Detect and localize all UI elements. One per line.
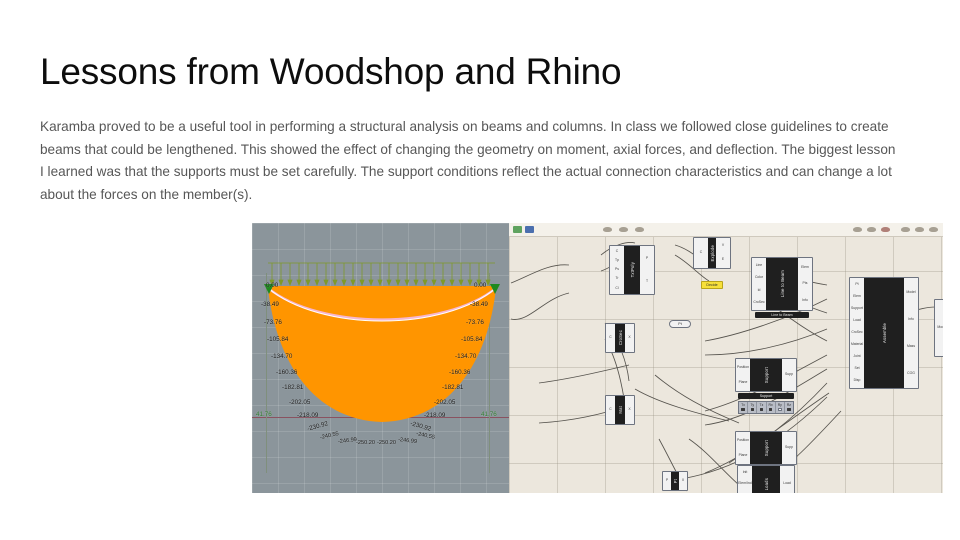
pin-label: C [616, 250, 618, 253]
explode-inputs[interactable]: C [694, 238, 708, 268]
dof-ry[interactable]: Ry [776, 402, 785, 413]
support2-title-bar[interactable]: Support [750, 432, 782, 464]
toolbar-curve-icon-1[interactable] [603, 227, 612, 232]
dof-label: Rx [769, 404, 773, 407]
explode-outputs[interactable]: V E [716, 238, 730, 268]
toolbar-chip-green-icon[interactable] [513, 226, 522, 233]
dof-label: Tz [760, 404, 764, 407]
support1-dof-row[interactable]: Tx Ty Tz Rx Ry Rz [738, 401, 794, 414]
crosec-outputs[interactable]: X [625, 324, 634, 352]
support2-outputs[interactable]: Supp [782, 432, 796, 464]
point-pill-param[interactable]: Pt [669, 320, 691, 328]
component-name: Support [764, 367, 769, 383]
crosec-inputs[interactable]: C [606, 324, 615, 352]
pin-label: Supp [785, 373, 793, 376]
pin-label: T [646, 280, 648, 283]
moment-label-left-0: 0.00 [266, 282, 278, 289]
pin-label: Load [783, 482, 791, 485]
page-title: Lessons from Woodshop and Rhino [40, 52, 621, 93]
pin-label: Load [853, 319, 861, 322]
loads-outputs[interactable]: Load [780, 466, 794, 493]
pin-label: Model [937, 326, 943, 329]
embedded-screenshot[interactable]: 0.00 -38.49 -73.76 -105.84 -134.70 -160.… [252, 223, 943, 493]
loads-inputs[interactable]: Init Elem/Ind LCInd [738, 466, 752, 493]
pin-label: Pt [855, 283, 858, 286]
pin-label: Init [743, 471, 748, 474]
component-assemble[interactable]: Pt Elem Support Load CroSec Material Joi… [849, 277, 919, 389]
txtpoly-outputs[interactable]: P T [640, 246, 654, 294]
moment-label-right-3: -105.84 [461, 336, 482, 343]
moment-label-right-0: 0.00 [474, 282, 486, 289]
assemble-title-bar[interactable]: Assemble [864, 278, 904, 388]
pin-label: Plane [739, 454, 748, 457]
dof-checkbox[interactable] [751, 408, 755, 412]
pin-label: Support [851, 307, 863, 310]
pin-label: C [700, 251, 702, 254]
pin-label: CroSec [851, 331, 862, 334]
pin-label: Info [908, 318, 914, 321]
reaction-label-right: 41.76 [481, 411, 497, 418]
component-name: CroSec [618, 330, 623, 345]
loads-title-bar[interactable]: Loads [752, 466, 780, 493]
moment-label-bottom-3: -250.20 [377, 440, 396, 446]
txtpoly-inputs[interactable]: C Tp Ps Tr Cl [610, 246, 624, 294]
component-name: Line to Beam [780, 270, 785, 297]
component-txtpoly[interactable]: C Tp Ps Tr Cl TxtPoly P T [609, 245, 655, 295]
component-support-1[interactable]: Position Plane Support Supp [735, 358, 797, 392]
pin-label: Tr [615, 277, 618, 280]
assemble-inputs[interactable]: Pt Elem Support Load CroSec Material Joi… [850, 278, 864, 388]
moment-label-right-7: -202.05 [434, 399, 455, 406]
pin-label: Line [756, 264, 762, 267]
pin-label: Position [737, 366, 749, 369]
pin-label: COG [907, 372, 915, 375]
material-inputs[interactable]: C [606, 396, 615, 424]
pin-label: Cl [615, 287, 618, 290]
component-support-2[interactable]: Position Plane Support Supp [735, 431, 797, 465]
toolbar-curve-icon-4[interactable] [853, 227, 862, 232]
component-analyze[interactable]: Model Analyze Model Disp Force Energy [934, 299, 943, 357]
dof-tx[interactable]: Tx [739, 402, 748, 413]
pin-label: X [628, 336, 630, 339]
txtpoly-title-bar[interactable]: TxtPoly [624, 246, 640, 294]
assemble-outputs[interactable]: Model Info Mass COG [904, 278, 918, 388]
line-to-beam-caption: Line to Beam [755, 312, 809, 318]
component-point[interactable]: P Pt X [662, 471, 688, 491]
material-title-bar[interactable]: Mat [615, 396, 625, 424]
pin-label: Set [854, 367, 859, 370]
support1-inputs[interactable]: Position Plane [736, 359, 750, 391]
dof-ty[interactable]: Ty [748, 402, 757, 413]
component-name: Loads [764, 478, 769, 490]
component-line-to-beam[interactable]: Line Color Id CroSec Line to Beam Elem P… [751, 257, 813, 311]
component-crosec[interactable]: C CroSec X [605, 323, 635, 353]
pin-label: X [628, 408, 630, 411]
pin-label: Tp [615, 259, 619, 262]
moment-label-right-6: -182.81 [442, 384, 463, 391]
pin-label: Elem [801, 266, 809, 269]
component-name: TxtPoly [630, 262, 635, 277]
moment-label-bottom-2: -250.20 [356, 440, 375, 446]
moment-label-left-2: -73.76 [264, 319, 282, 326]
component-name: Mat [618, 406, 623, 414]
slide: Lessons from Woodshop and Rhino Karamba … [0, 0, 960, 540]
dof-checkbox[interactable] [769, 408, 773, 412]
pin-label: Supp [785, 446, 793, 449]
toolbar-curve-icon-7[interactable] [901, 227, 910, 232]
pin-label: CroSec [753, 301, 764, 304]
pin-label: Disp [854, 379, 861, 382]
pin-label: Info [802, 299, 808, 302]
toolbar-curve-icon-2[interactable] [619, 227, 628, 232]
dof-tz[interactable]: Tz [757, 402, 766, 413]
line-to-beam-inputs[interactable]: Line Color Id CroSec [752, 258, 766, 310]
component-name: Support [764, 440, 769, 456]
decide-panel[interactable]: Decide [701, 281, 723, 289]
pin-label: Mass [907, 345, 915, 348]
crosec-title-bar[interactable]: CroSec [615, 324, 625, 352]
component-name: Assemble [882, 323, 887, 343]
point-outputs[interactable]: X [679, 472, 687, 490]
dof-checkbox[interactable] [787, 408, 791, 412]
pin-label: Elem [853, 295, 861, 298]
pin-label: Ps [615, 268, 619, 271]
grasshopper-canvas[interactable]: C Tp Ps Tr Cl TxtPoly P T C Explode [509, 223, 943, 493]
component-material[interactable]: C Mat X [605, 395, 635, 425]
line-to-beam-title-bar[interactable]: Line to Beam [766, 258, 798, 310]
moment-label-right-4: -134.70 [455, 353, 476, 360]
body-paragraph: Karamba proved to be a useful tool in pe… [40, 116, 902, 206]
toolbar-curve-icon-6[interactable] [881, 227, 890, 232]
pin-label: C [609, 336, 611, 339]
dof-checkbox[interactable] [778, 408, 782, 412]
component-name: Explode [710, 245, 715, 262]
material-outputs[interactable]: X [625, 396, 634, 424]
pin-label: E [722, 258, 724, 261]
toolbar-curve-icon-8[interactable] [915, 227, 924, 232]
toolbar-curve-icon-3[interactable] [635, 227, 644, 232]
dof-label: Ty [750, 404, 754, 407]
moment-label-left-5: -160.36 [276, 369, 297, 376]
dof-checkbox[interactable] [741, 408, 745, 412]
toolbar-curve-icon-5[interactable] [867, 227, 876, 232]
pin-label: X [682, 479, 684, 482]
moment-label-left-7: -202.05 [289, 399, 310, 406]
pin-label: Plane [739, 381, 748, 384]
support1-title-bar[interactable]: Support [750, 359, 782, 391]
component-name: Pt [673, 479, 678, 483]
dof-checkbox[interactable] [760, 408, 764, 412]
pin-label: Model [906, 291, 915, 294]
toolbar-curve-icon-9[interactable] [929, 227, 938, 232]
pin-label: Color [755, 276, 763, 279]
line-to-beam-outputs[interactable]: Elem Pts Info [798, 258, 812, 310]
pin-label: Pts [803, 282, 808, 285]
dof-label: Ry [778, 404, 782, 407]
pin-label: Joint [853, 355, 860, 358]
component-explode[interactable]: C Explode V E [693, 237, 731, 269]
pin-label: V [722, 244, 724, 247]
pin-label: Id [758, 289, 761, 292]
pin-label: Elem/Ind [738, 482, 751, 485]
moment-label-left-4: -134.70 [271, 353, 292, 360]
analyze-inputs[interactable]: Model [935, 300, 943, 356]
pin-label: P [666, 479, 668, 482]
moment-label-right-8: -218.09 [424, 412, 445, 419]
moment-label-left-1: -38.49 [261, 301, 279, 308]
dof-label: Tx [741, 404, 745, 407]
pin-label: Material [851, 343, 863, 346]
support1-outputs[interactable]: Supp [782, 359, 796, 391]
dof-rz[interactable]: Rz [785, 402, 793, 413]
dof-rx[interactable]: Rx [767, 402, 776, 413]
point-title-bar[interactable]: Pt [671, 472, 679, 490]
support1-caption: Support [738, 393, 794, 399]
moment-label-left-8: -218.09 [297, 412, 318, 419]
moment-label-right-1: -38.49 [470, 301, 488, 308]
rhino-viewport[interactable]: 0.00 -38.49 -73.76 -105.84 -134.70 -160.… [252, 223, 509, 493]
pin-label: P [646, 257, 648, 260]
moment-label-right-2: -73.76 [466, 319, 484, 326]
component-loads[interactable]: Init Elem/Ind LCInd Loads Load [737, 465, 795, 493]
explode-title-bar[interactable]: Explode [708, 238, 716, 268]
support2-inputs[interactable]: Position Plane [736, 432, 750, 464]
dof-label: Rz [787, 404, 791, 407]
moment-label-right-5: -160.36 [449, 369, 470, 376]
reaction-label-left: 41.76 [256, 411, 272, 418]
moment-label-left-6: -182.81 [282, 384, 303, 391]
pin-label: C [609, 408, 611, 411]
pin-label: Position [737, 439, 749, 442]
moment-label-left-3: -105.84 [267, 336, 288, 343]
point-inputs[interactable]: P [663, 472, 671, 490]
toolbar-chip-blue-icon[interactable] [525, 226, 534, 233]
grasshopper-toolbar[interactable] [509, 223, 943, 237]
